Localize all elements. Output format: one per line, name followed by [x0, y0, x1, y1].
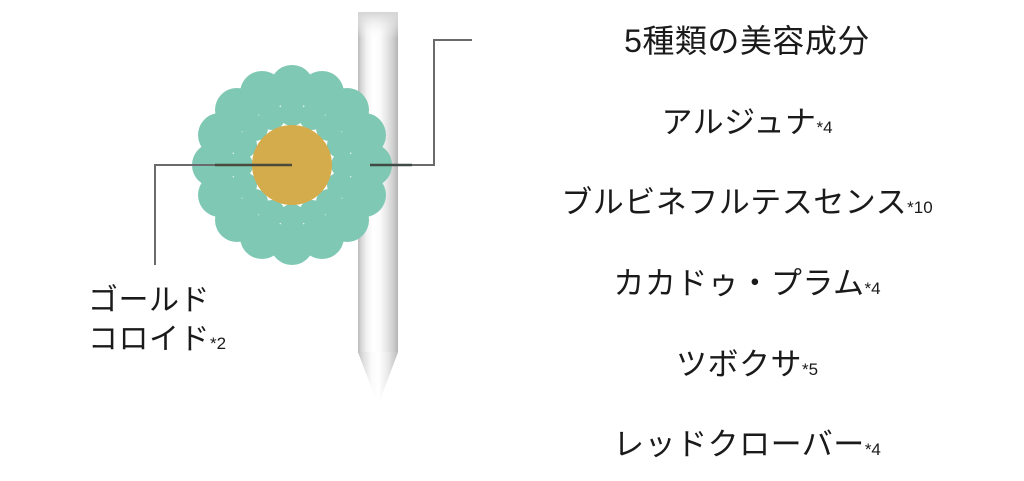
ingredient-item-4: レッドクローバー*4 — [470, 419, 1024, 464]
ingredient-name: ブルビネフルテスセンス — [561, 185, 907, 220]
illustration-svg — [0, 0, 500, 481]
ingredient-item-1: ブルビネフルテスセンス*10 — [470, 177, 1024, 222]
ingredient-note: *4 — [865, 440, 881, 459]
gold-colloid-caption: ゴールド コロイド*2 — [88, 281, 226, 359]
ingredient-item-0: アルジュナ*4 — [470, 97, 1024, 142]
ingredient-list: 5種類の美容成分 アルジュナ*4 ブルビネフルテスセンス*10 カカドゥ・プラム… — [470, 0, 1024, 481]
ingredient-note: *10 — [907, 198, 933, 217]
diagram-canvas: ゴールド コロイド*2 5種類の美容成分 アルジュナ*4 ブルビネフルテスセンス… — [0, 0, 1024, 481]
needle-top-cap — [358, 12, 398, 38]
product-illustration — [0, 0, 500, 481]
ingredient-list-title-text: 5種類の美容成分 — [624, 23, 870, 59]
bubble-inner — [327, 132, 353, 158]
gold-colloid-caption-line2: コロイド*2 — [88, 320, 226, 359]
gold-colloid-caption-line2-text: コロイド — [88, 323, 210, 356]
ingredient-item-3: ツボクサ*5 — [470, 339, 1024, 384]
ingredient-name: アルジュナ — [661, 105, 816, 140]
gold-colloid-caption-line1: ゴールド — [88, 281, 226, 320]
ingredient-note: *5 — [802, 360, 818, 379]
ingredient-note: *4 — [865, 279, 881, 298]
ingredient-name: カカドゥ・プラム — [613, 266, 864, 301]
gold-colloid-caption-note: *2 — [210, 334, 226, 353]
ingredient-item-2: カカドゥ・プラム*4 — [470, 258, 1024, 303]
needle-tip — [358, 352, 398, 405]
ingredient-name: ツボクサ — [676, 347, 802, 382]
ingredient-note: *4 — [816, 118, 832, 137]
ingredient-list-title: 5種類の美容成分 — [470, 16, 1024, 62]
ingredient-name: レッドクローバー — [613, 427, 865, 462]
